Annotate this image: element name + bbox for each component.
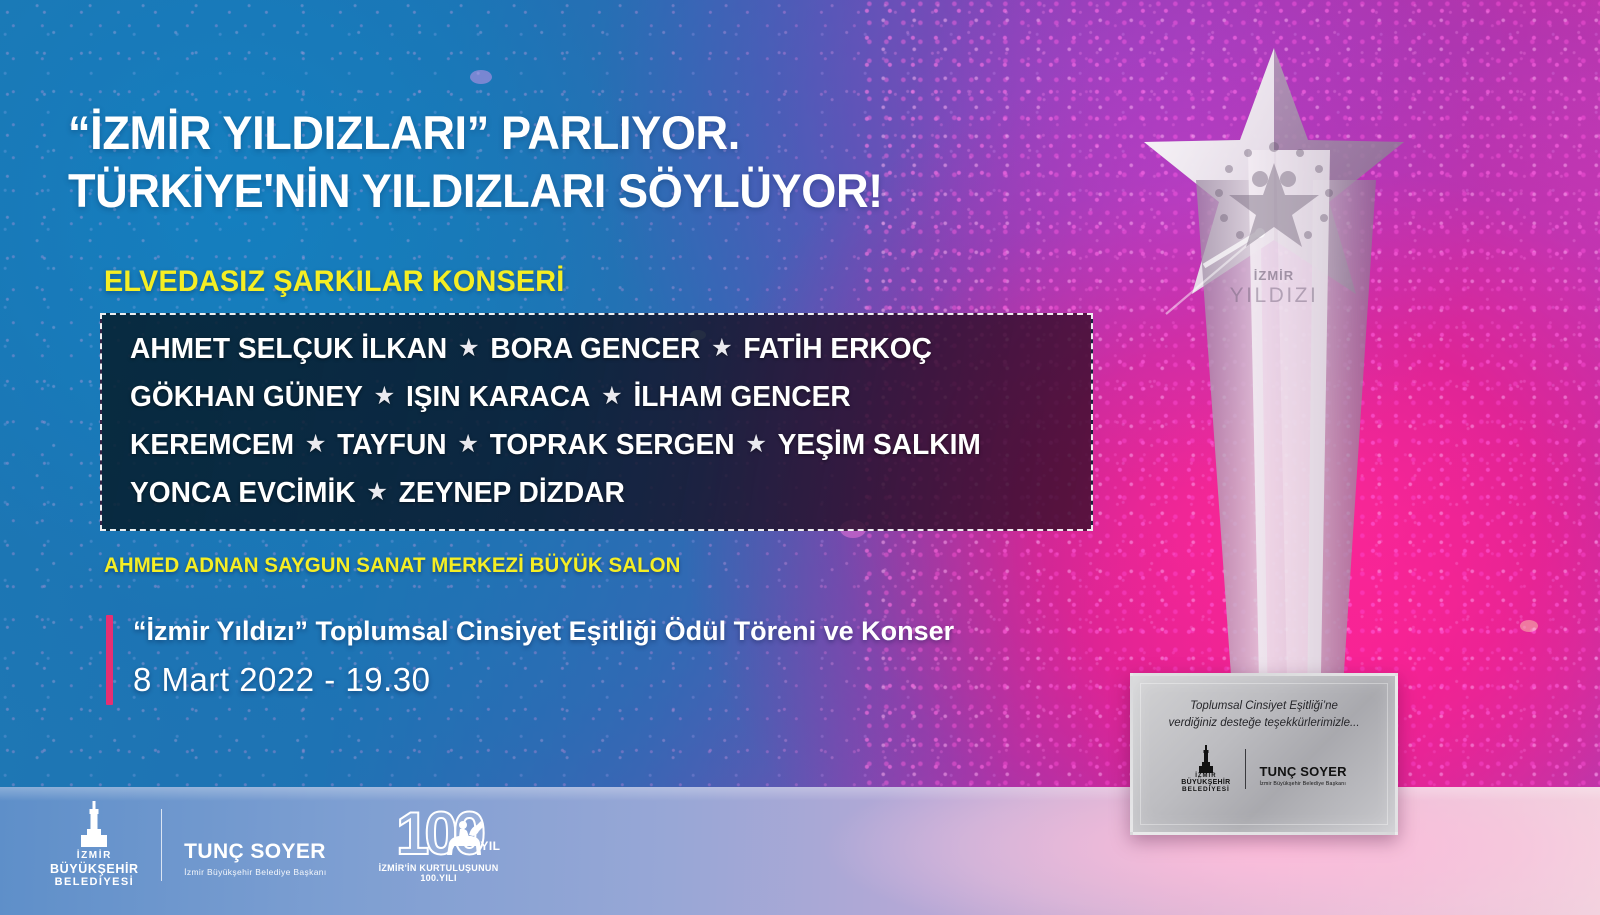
artist-name: AHMET SELÇUK İLKAN <box>130 335 447 364</box>
headline-line-2: TÜRKİYE'NİN YILDIZLARI SÖYLÜYOR! <box>68 162 1086 220</box>
artist-name: YEŞİM SALKIM <box>778 431 981 460</box>
headline-line-1: “İZMİR YILDIZLARI” PARLIYOR. <box>68 104 1086 162</box>
artist-name: ZEYNEP DİZDAR <box>399 479 625 508</box>
poster-canvas: İZMİR YILDIZI Toplumsal Cinsiyet Eşitliğ… <box>0 0 1600 915</box>
star-separator-icon: ★ <box>366 480 388 505</box>
plaque-divider <box>1245 749 1246 789</box>
ibb-line-2: BÜYÜKŞEHİR <box>50 862 139 876</box>
artist-name: GÖKHAN GÜNEY <box>130 383 363 412</box>
plaque-ibb-line-3: BELEDİYESİ <box>1182 786 1230 793</box>
event-details: “İzmir Yıldızı” Toplumsal Cinsiyet Eşitl… <box>106 615 954 705</box>
clock-tower-icon <box>1195 745 1217 773</box>
ibb-line-1: İZMİR <box>77 850 112 862</box>
event-date: 8 Mart 2022 - 19.30 <box>133 661 954 699</box>
centennial-suffix: .YIL <box>477 839 501 853</box>
centennial-caption-2: 100.YILI <box>379 873 499 883</box>
plaque-ibb-logo: İZMİR BÜYÜKŞEHİR BELEDİYESİ <box>1181 745 1230 793</box>
artist-name: FATİH ERKOÇ <box>743 335 932 364</box>
footer-divider <box>161 809 163 881</box>
powder-blob <box>1520 620 1538 632</box>
star-separator-icon: ★ <box>374 384 396 409</box>
trophy-plaque: Toplumsal Cinsiyet Eşitliği’ne verdiğini… <box>1130 673 1398 835</box>
star-separator-icon: ★ <box>457 432 479 457</box>
mayor-logo: TUNÇ SOYER İzmir Büyükşehir Belediye Baş… <box>184 814 326 877</box>
artist-name: KEREMCEM <box>130 431 294 460</box>
headline-block: “İZMİR YILDIZLARI” PARLIYOR. TÜRKİYE'NİN… <box>68 104 1128 220</box>
star-separator-icon: ★ <box>745 432 767 457</box>
artist-rows: AHMET SELÇUK İLKAN★BORA GENCER★FATİH ERK… <box>130 335 1091 508</box>
concert-subtitle: ELVEDASIZ ŞARKILAR KONSERİ <box>104 265 565 299</box>
star-separator-icon: ★ <box>711 336 733 361</box>
artist-name: İLHAM GENCER <box>633 383 850 412</box>
plaque-line-1: Toplumsal Cinsiyet Eşitliği’ne <box>1190 698 1338 715</box>
artist-row: GÖKHAN GÜNEY★IŞIN KARACA★İLHAM GENCER <box>130 383 1062 412</box>
artist-name: IŞIN KARACA <box>406 383 590 412</box>
artist-row: YONCA EVCİMİK★ZEYNEP DİZDAR <box>130 479 1062 508</box>
plaque-mayor-role: İzmir Büyükşehir Belediye Başkanı <box>1260 781 1347 787</box>
star-separator-icon: ★ <box>601 384 623 409</box>
event-accent-bar <box>106 615 113 705</box>
star-separator-icon: ★ <box>305 432 327 457</box>
clock-tower-icon <box>74 801 114 847</box>
artist-name: TOPRAK SERGEN <box>490 431 735 460</box>
artist-row: KEREMCEM★TAYFUN★TOPRAK SERGEN★YEŞİM SALK… <box>130 431 1062 460</box>
event-title: “İzmir Yıldızı” Toplumsal Cinsiyet Eşitl… <box>133 617 954 647</box>
mayor-name: TUNÇ SOYER <box>184 840 326 864</box>
artist-name: YONCA EVCİMİK <box>130 479 356 508</box>
powder-blob <box>470 70 492 84</box>
plaque-mayor-name: TUNÇ SOYER <box>1260 764 1347 779</box>
mayor-role: İzmir Büyükşehir Belediye Başkanı <box>184 867 326 877</box>
star-separator-icon: ★ <box>458 336 480 361</box>
artist-name: TAYFUN <box>337 431 446 460</box>
venue-label: AHMED ADNAN SAYGUN SANAT MERKEZİ BÜYÜK S… <box>104 553 680 578</box>
footer-logos: İZMİR BÜYÜKŞEHİR BELEDİYESİ TUNÇ SOYER İ… <box>50 790 499 900</box>
artist-lineup-box: AHMET SELÇUK İLKAN★BORA GENCER★FATİH ERK… <box>100 313 1093 531</box>
ibb-line-3: BELEDİYESİ <box>55 876 134 889</box>
artist-row: AHMET SELÇUK İLKAN★BORA GENCER★FATİH ERK… <box>130 335 1062 364</box>
artist-name: BORA GENCER <box>490 335 700 364</box>
ibb-logo: İZMİR BÜYÜKŞEHİR BELEDİYESİ <box>50 801 139 889</box>
plaque-line-2: verdiğiniz desteğe teşekkürlerimizle... <box>1168 715 1359 732</box>
centennial-logo: 100 .YIL İZMİR'İN KURTULUŞUNUN 100.YILI <box>379 807 499 883</box>
